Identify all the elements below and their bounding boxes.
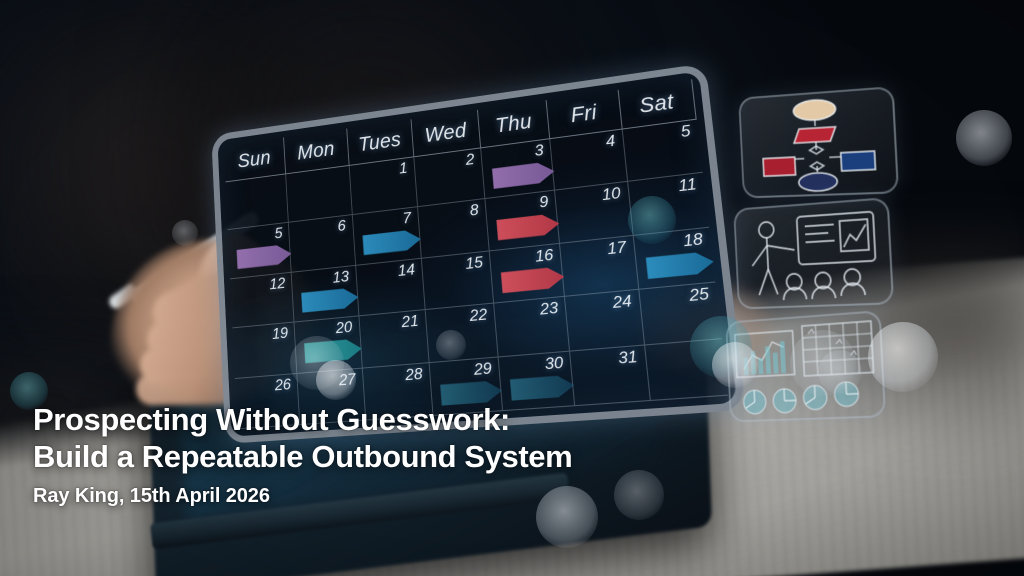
calendar-day-number: 14 (397, 261, 415, 280)
calendar-day-cell[interactable]: 22 (426, 304, 499, 363)
analytics-icon (727, 312, 884, 420)
calendar-day-cell[interactable]: 31 (571, 345, 651, 406)
calendar-day-number: 4 (605, 133, 616, 152)
calendar-day-cell[interactable]: 4 (551, 130, 628, 191)
calendar-day-number: 19 (272, 325, 289, 344)
calendar-day-cell[interactable]: 17 (560, 236, 639, 297)
calendar-event-arrow[interactable] (645, 251, 715, 280)
calendar-day-number: 8 (469, 202, 479, 221)
calendar-day-cell[interactable]: 20 (295, 317, 363, 374)
calendar-day-number: 25 (688, 286, 710, 307)
calendar-day-cell[interactable]: 15 (422, 251, 495, 310)
calendar-day-number: 16 (534, 246, 554, 266)
calendar-day-number: 9 (539, 194, 550, 213)
calendar-day-cell[interactable]: 1 (349, 157, 418, 215)
calendar-day-cell[interactable]: 14 (356, 259, 426, 317)
calendar-day-number: 22 (469, 306, 488, 326)
calendar-day-cell[interactable]: 10 (556, 182, 634, 243)
calendar-day-number: 31 (617, 348, 638, 369)
calendar-day-number: 28 (405, 365, 423, 384)
calendar-day-cell[interactable]: 21 (359, 310, 429, 368)
calendar-day-cell[interactable]: 8 (418, 199, 490, 258)
calendar-day-cell[interactable]: 13 (292, 266, 359, 323)
presenter-icon (735, 199, 892, 307)
calendar-event-arrow[interactable] (501, 266, 566, 294)
calendar-day-number: 15 (465, 254, 484, 274)
calendar-day-number: 5 (680, 123, 692, 143)
calendar-grid: SunMonTuesWedThuFriSat123455678910111213… (224, 79, 729, 429)
calendar-event-arrow[interactable] (510, 374, 576, 401)
calendar-day-cell[interactable]: 12 (230, 273, 295, 329)
calendar-day-cell[interactable]: 7 (352, 208, 421, 266)
calendar-day-cell[interactable]: 6 (289, 215, 356, 272)
flowchart-icon (740, 88, 897, 196)
calendar-day-number: 3 (534, 142, 545, 161)
title-block: Prospecting Without Guesswork: Build a R… (33, 401, 733, 508)
calendar-day-number: 11 (678, 176, 698, 197)
holo-panel-analytics[interactable] (725, 310, 886, 422)
calendar-day-number: 6 (337, 218, 346, 236)
calendar-day-cell[interactable]: 11 (628, 173, 709, 236)
calendar-day-cell[interactable]: 5 (622, 120, 702, 183)
calendar-event-arrow[interactable] (492, 161, 556, 189)
calendar-day-cell[interactable]: 24 (565, 290, 644, 351)
calendar-event-arrow[interactable] (362, 229, 422, 256)
calendar-day-cell[interactable]: 16 (490, 244, 566, 304)
calendar-event-arrow[interactable] (304, 338, 362, 364)
calendar-day-cell[interactable]: 3 (481, 139, 555, 199)
calendar-day-number: 7 (402, 210, 412, 228)
calendar-day-cell[interactable]: 25 (639, 283, 722, 345)
calendar-day-cell[interactable] (225, 174, 289, 230)
calendar-day-number: 5 (274, 226, 283, 244)
calendar-day-number: 27 (338, 371, 356, 390)
calendar-event-arrow[interactable] (496, 213, 560, 241)
calendar-day-cell[interactable] (645, 339, 728, 401)
calendar-day-cell[interactable]: 5 (228, 223, 292, 279)
slide-canvas: SunMonTuesWedThuFriSat123455678910111213… (0, 0, 1024, 576)
slide-subtitle: Ray King, 15th April 2026 (33, 484, 733, 508)
holo-panel-presenter[interactable] (733, 197, 894, 309)
calendar-day-number: 21 (401, 313, 419, 332)
calendar-day-number: 30 (544, 354, 564, 374)
calendar-day-number: 17 (607, 239, 628, 259)
calendar-day-number: 23 (539, 300, 559, 320)
calendar-day-number: 10 (601, 185, 621, 205)
calendar-day-number: 13 (332, 268, 349, 287)
calendar-day-cell[interactable]: 23 (494, 297, 570, 357)
calendar-day-number: 12 (269, 275, 286, 294)
calendar-event-arrow[interactable] (236, 244, 292, 270)
calendar-day-number: 29 (473, 360, 492, 380)
holo-panel-flowchart[interactable] (738, 86, 899, 198)
calendar-day-cell[interactable]: 9 (486, 191, 561, 251)
calendar-day-cell[interactable] (286, 166, 352, 223)
calendar-day-number: 24 (612, 293, 633, 314)
calendar-day-cell[interactable]: 18 (633, 228, 715, 290)
calendar-day-cell[interactable]: 19 (232, 323, 297, 379)
calendar-day-number: 26 (274, 376, 291, 395)
calendar-event-arrow[interactable] (301, 287, 359, 313)
calendar-day-number: 1 (398, 160, 408, 178)
calendar-day-number: 2 (465, 151, 475, 170)
slide-title-line-2: Build a Repeatable Outbound System (33, 438, 733, 475)
calendar-day-number: 20 (335, 319, 353, 338)
calendar-day-cell[interactable]: 2 (414, 148, 485, 207)
slide-title-line-1: Prospecting Without Guesswork: (33, 401, 733, 438)
calendar-day-number: 18 (682, 230, 703, 251)
